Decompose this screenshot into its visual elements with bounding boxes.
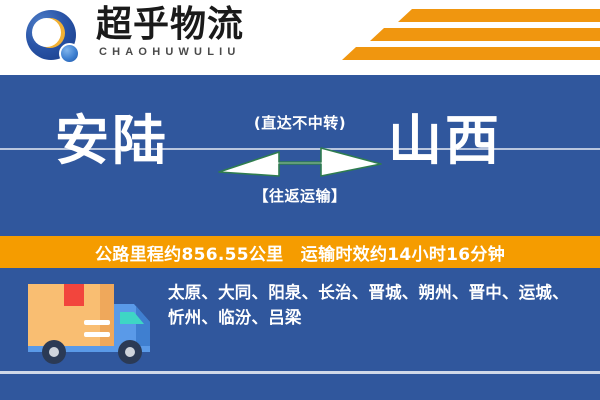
stripe-3: [342, 47, 600, 60]
bidirectional-arrow-icon: [217, 142, 383, 180]
destination-city: 山西: [388, 108, 502, 174]
coverage-city-list: 太原、大同、阳泉、长治、晋城、朔州、晋中、运城、忻州、临汾、吕梁: [168, 280, 584, 330]
stripe-2: [370, 28, 600, 41]
delivery-truck-icon: [24, 276, 164, 372]
road-line: [0, 371, 600, 374]
route-note-direct: (直达不中转): [215, 112, 385, 133]
orange-chevron-stripes-icon: [340, 9, 600, 67]
logo-crescent-cutout: [32, 18, 61, 47]
logo-dot-shape: [59, 43, 80, 64]
route-section: 安陆 (直达不中转) 【往返运输】 山西: [0, 100, 600, 220]
banner-header: 超乎物流 CHAOHUWULIU: [0, 0, 600, 75]
stripe-1: [398, 9, 600, 22]
route-note-roundtrip: 【往返运输】: [215, 185, 385, 206]
company-logo-icon: [26, 10, 82, 66]
brand-name: 超乎物流: [96, 4, 244, 46]
route-middle: (直达不中转) 【往返运输】: [215, 100, 385, 220]
route-info-text: 公路里程约856.55公里 运输时效约14小时16分钟: [95, 240, 505, 265]
origin-city: 安陆: [55, 108, 169, 174]
route-info-bar: 公路里程约856.55公里 运输时效约14小时16分钟: [0, 236, 600, 268]
logistics-route-banner: 超乎物流 CHAOHUWULIU 安陆 (直达不中转) 【往返运输】 山西 公路…: [0, 0, 600, 400]
brand-pinyin: CHAOHUWULIU: [99, 46, 241, 58]
